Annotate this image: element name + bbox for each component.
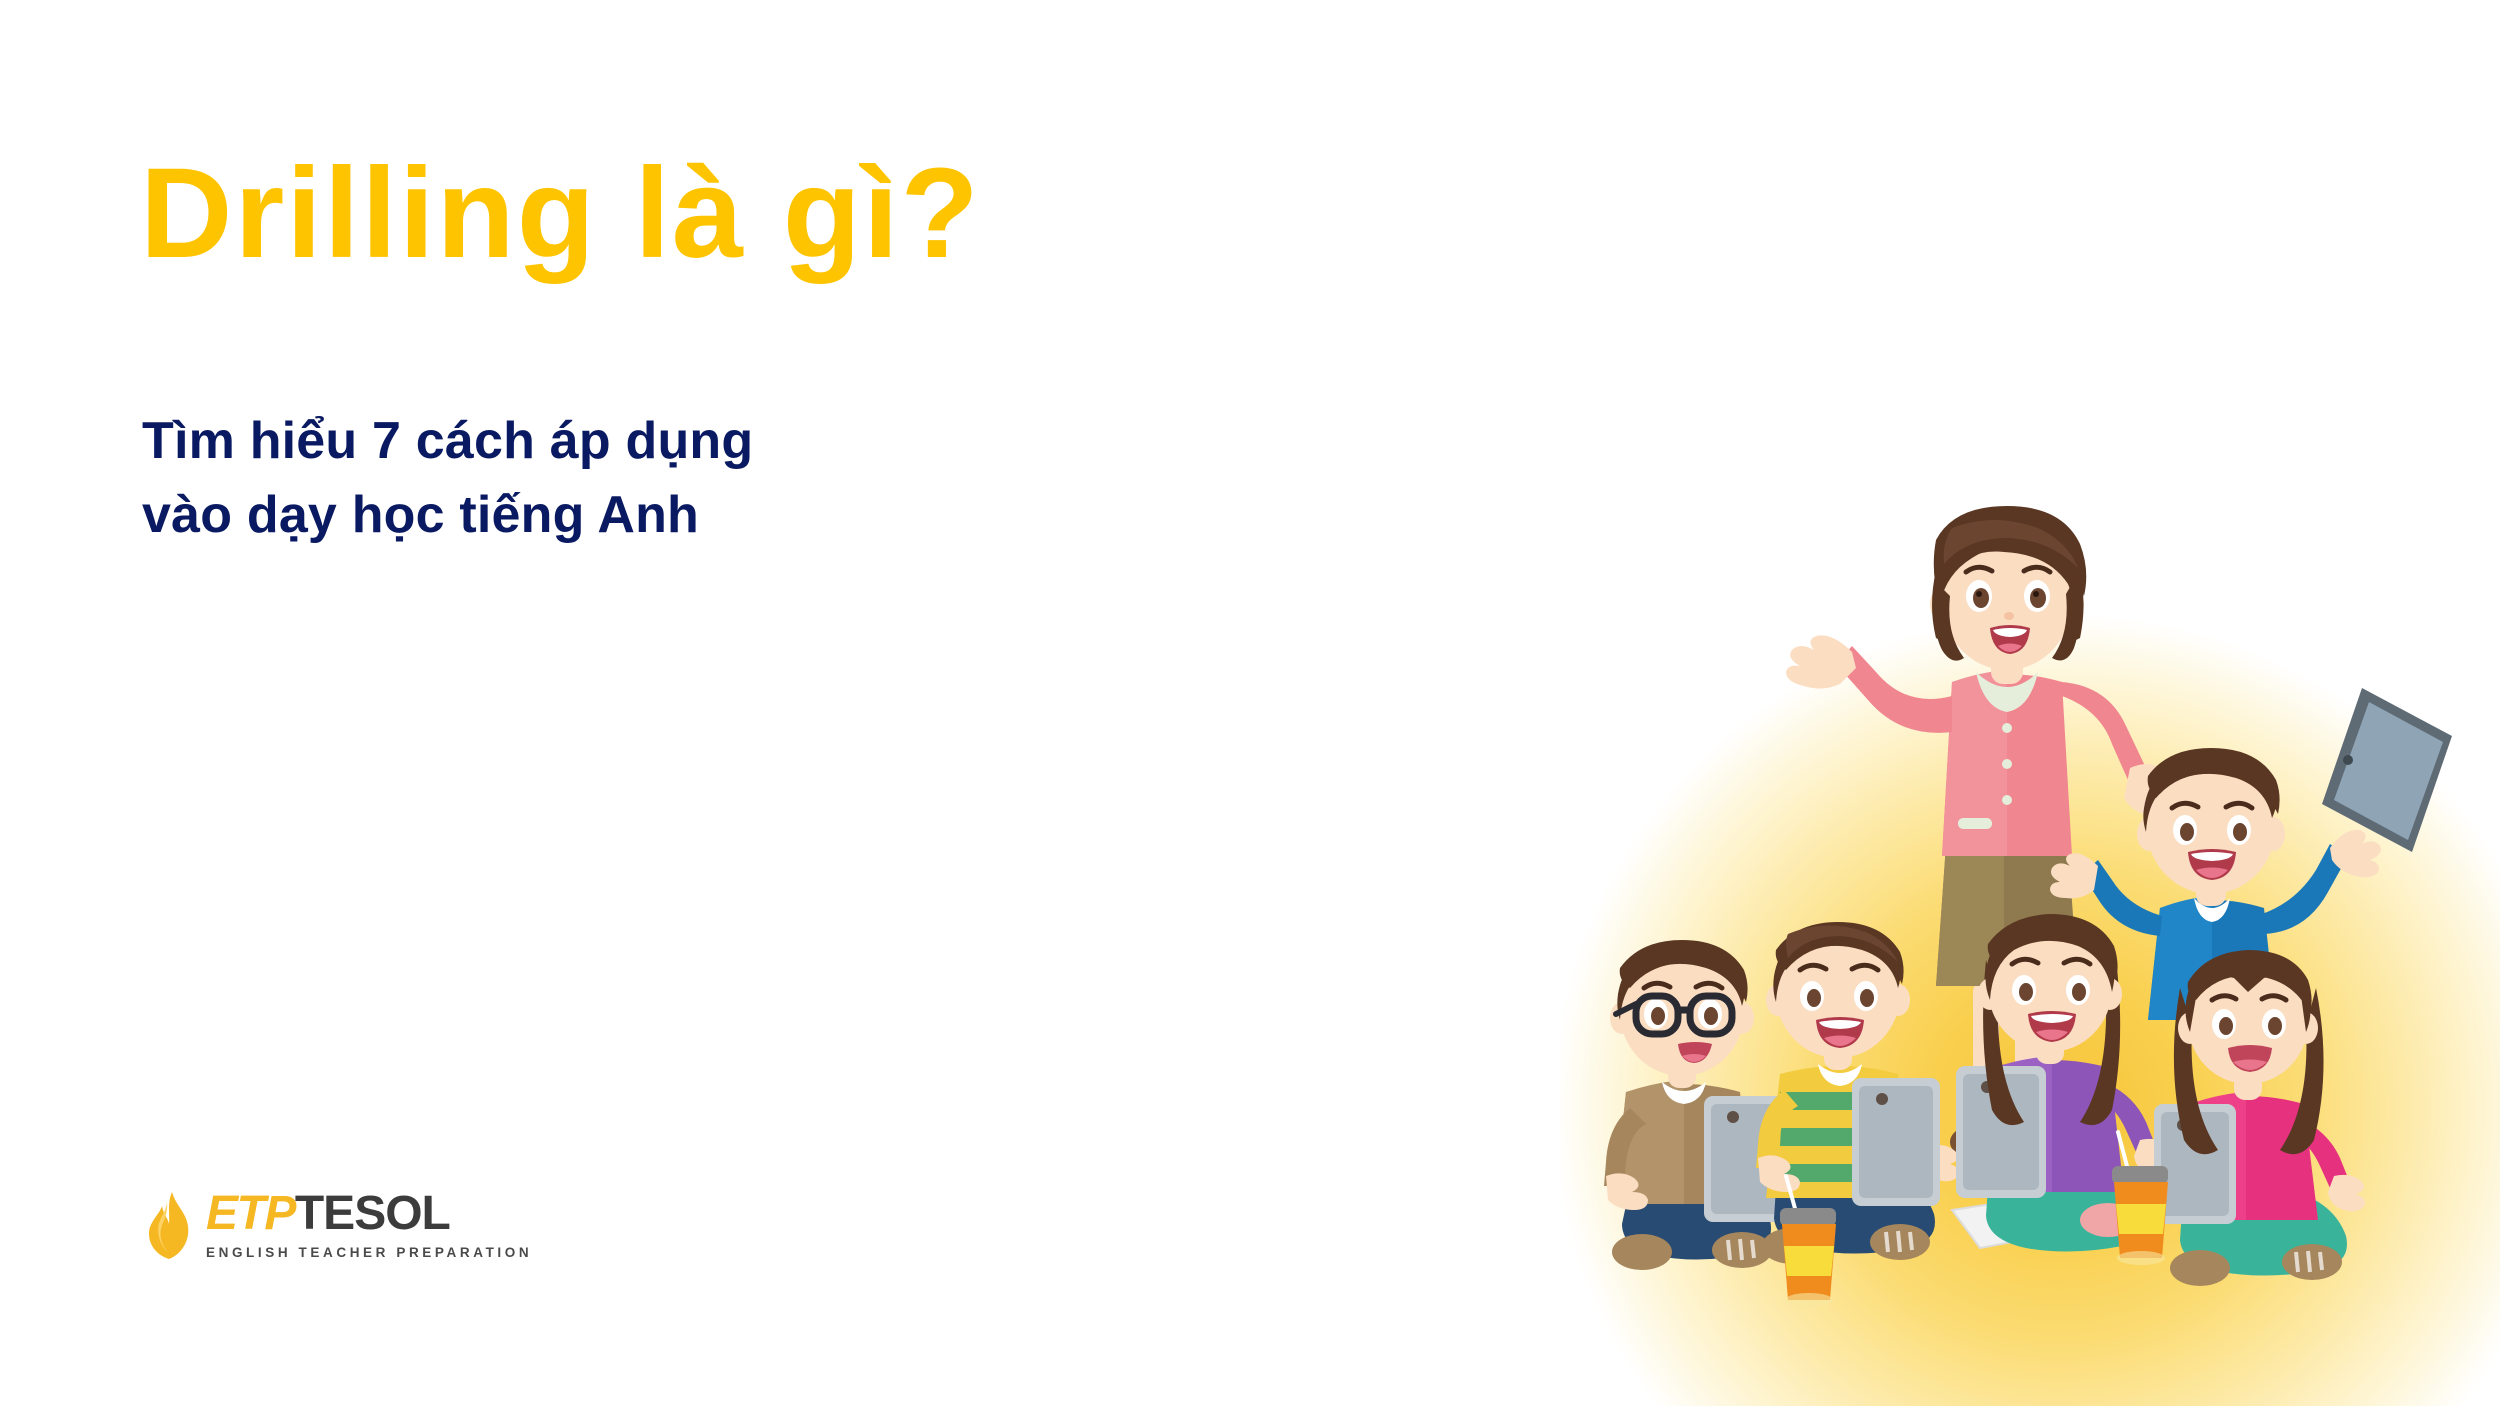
logo-tagline: ENGLISH TEACHER PREPARATION [206, 1245, 532, 1260]
logo-text-block: ETP TESOL ENGLISH TEACHER PREPARATION [206, 1190, 532, 1260]
logo-tesol-text: TESOL [295, 1190, 450, 1238]
subtitle-line-1: Tìm hiểu 7 cách áp dụng [142, 405, 753, 479]
tablet-raised [2322, 688, 2452, 852]
logo-wordmark: ETP TESOL [206, 1190, 532, 1238]
slide-canvas: Drilling là gì? Tìm hiểu 7 cách áp dụng … [0, 0, 2500, 1406]
logo-etp-text: ETP [206, 1190, 295, 1238]
illustration-teacher-and-students [1600, 420, 2500, 1320]
tablet-boy-striped [1852, 1078, 1940, 1206]
flame-icon [142, 1190, 194, 1262]
page-title: Drilling là gì? [140, 150, 981, 278]
subtitle-line-2: vào dạy học tiếng Anh [142, 479, 753, 553]
page-subtitle: Tìm hiểu 7 cách áp dụng vào dạy học tiến… [142, 405, 753, 553]
brand-logo: ETP TESOL ENGLISH TEACHER PREPARATION [142, 1190, 532, 1262]
